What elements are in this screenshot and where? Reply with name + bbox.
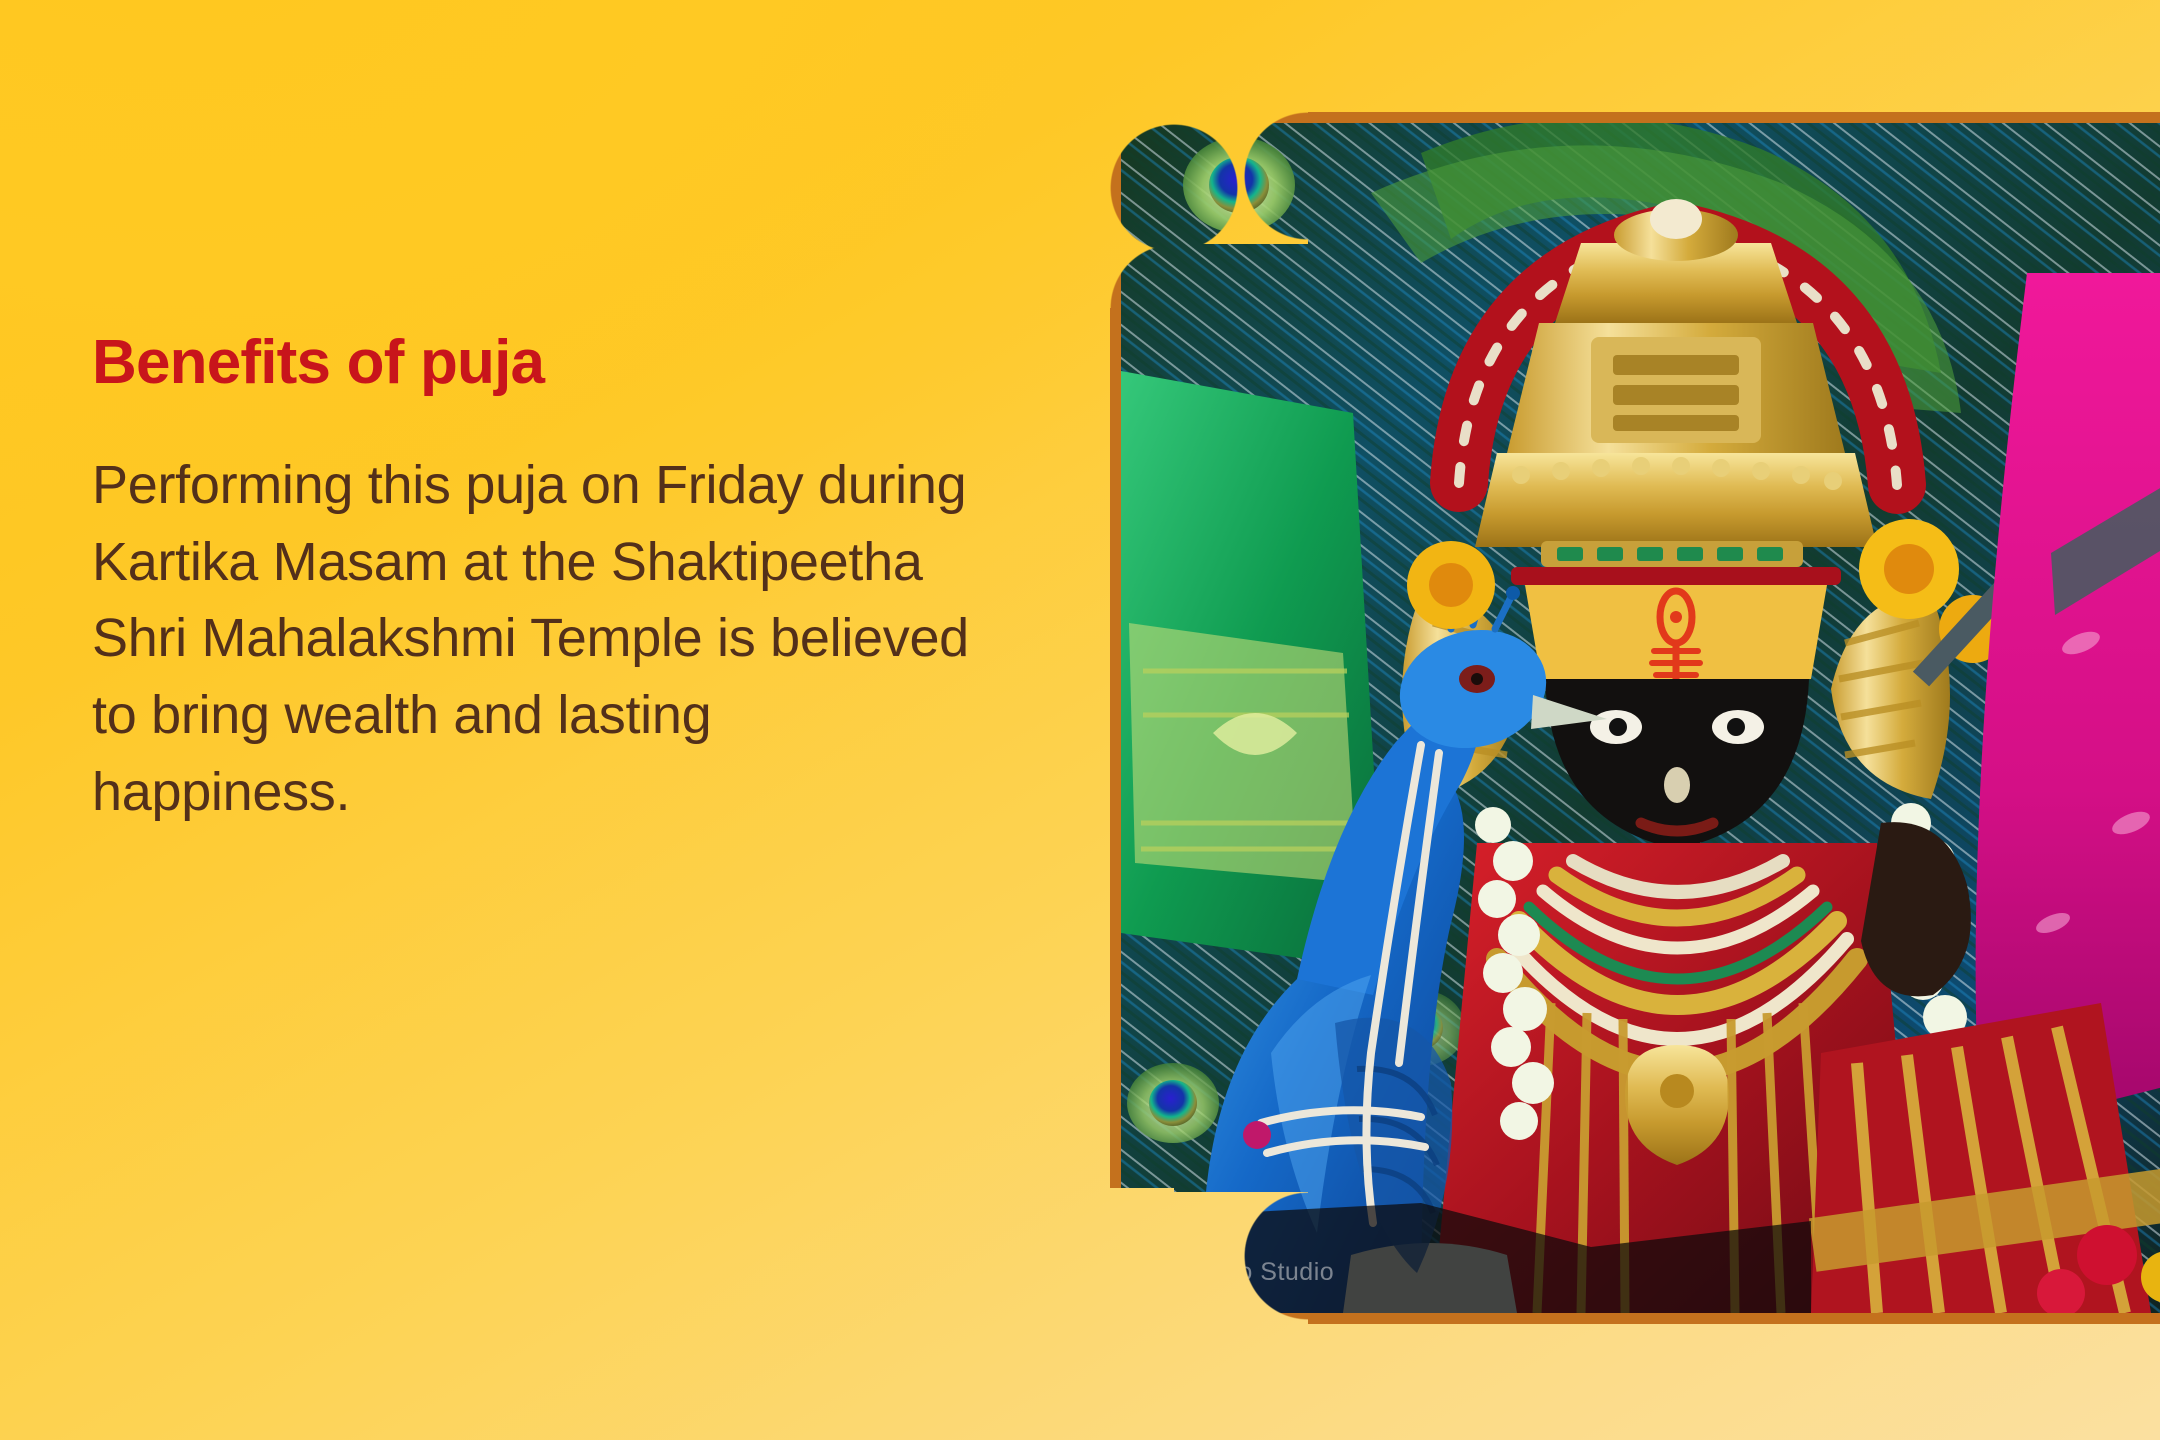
text-column: Benefits of puja Performing this puja on… (92, 330, 1012, 830)
photo-frame: Photo Studio (1110, 112, 2160, 1324)
photo-clip: Photo Studio (1121, 123, 2160, 1313)
page-title: Benefits of puja (92, 330, 1012, 395)
slide-canvas: Benefits of puja Performing this puja on… (0, 0, 2160, 1440)
deity-photo (1121, 123, 2160, 1313)
body-paragraph: Performing this puja on Friday during Ka… (92, 447, 972, 830)
